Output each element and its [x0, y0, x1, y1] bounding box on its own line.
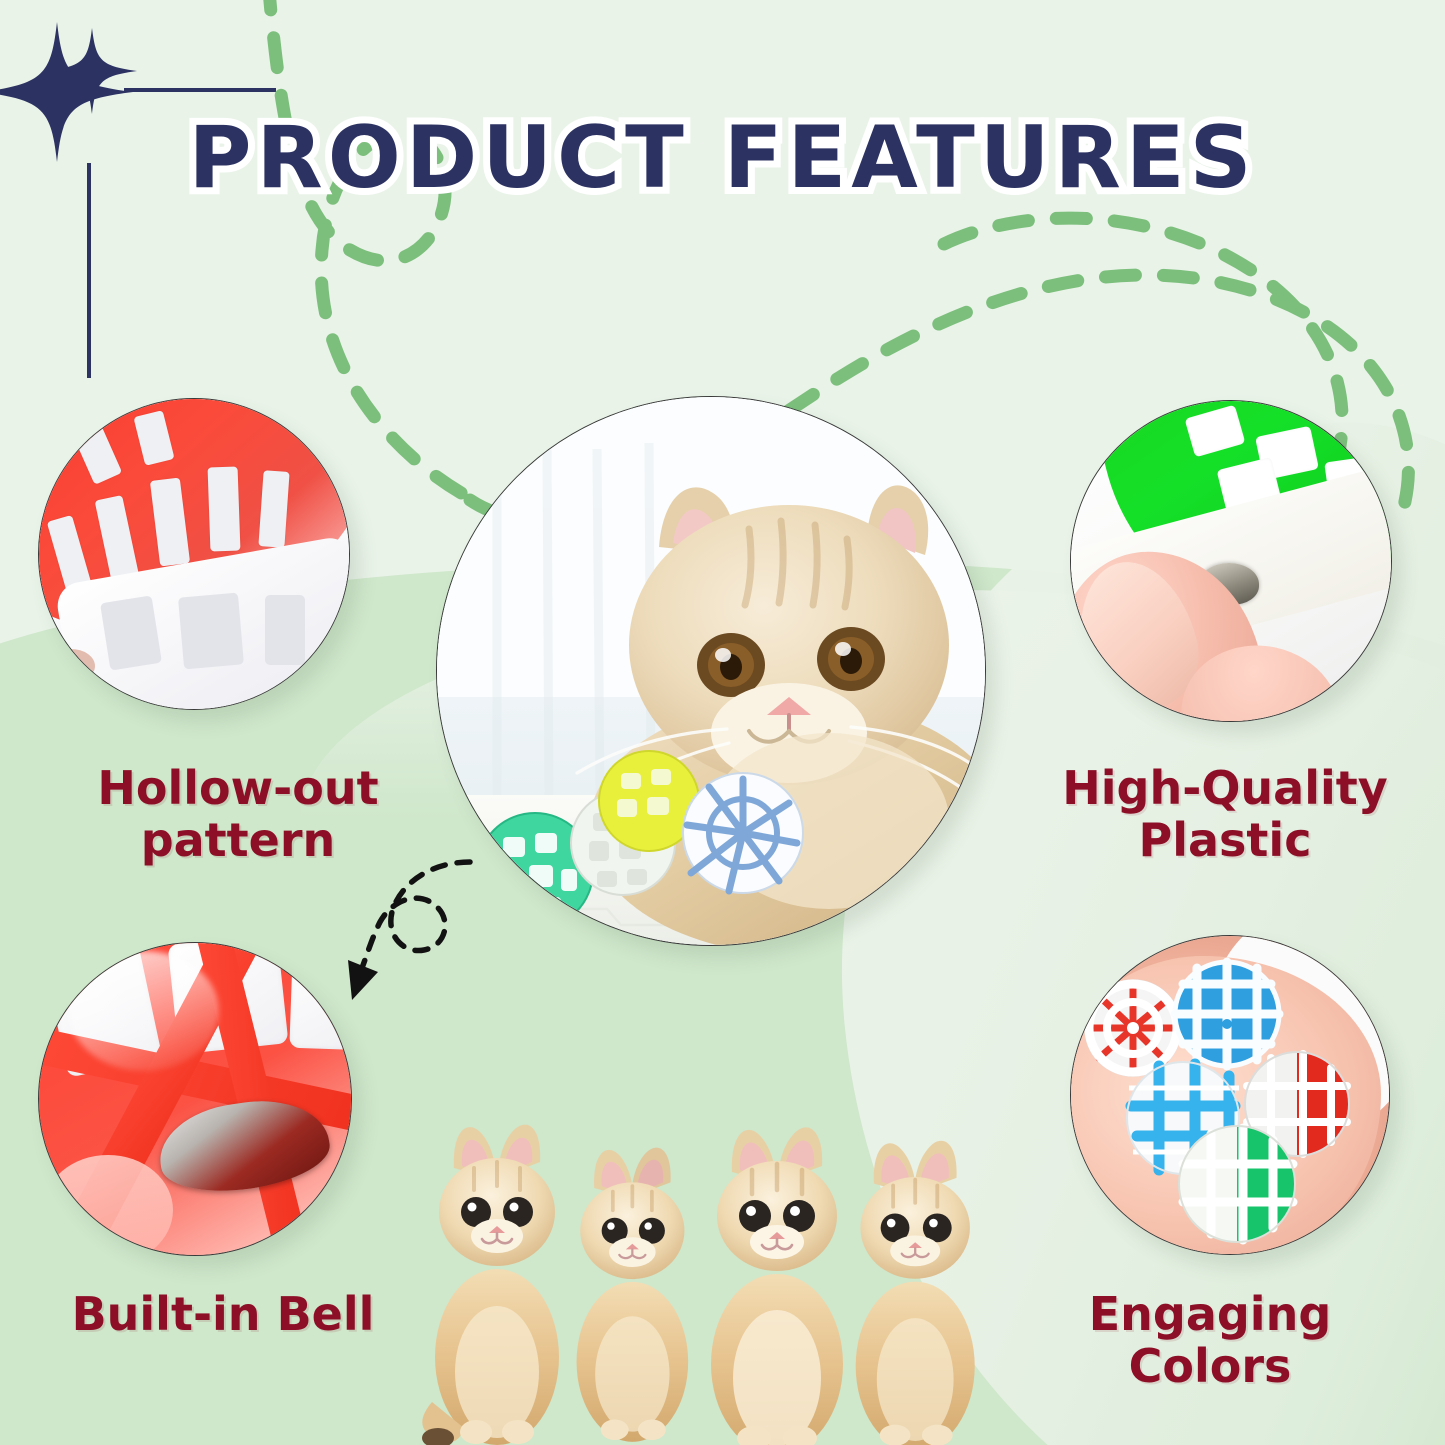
- ball-green: [1179, 1126, 1295, 1242]
- kittens-illustration: [392, 1112, 1032, 1445]
- feature-image-high-quality-plastic: [1070, 400, 1392, 722]
- engaging-colors-photo: [1071, 936, 1389, 1254]
- hero-image-bubble: [436, 396, 986, 946]
- feature-label-engaging-colors: Engaging Colors: [1010, 1288, 1410, 1393]
- feature-label-high-quality-plastic: High-Quality Plastic: [1040, 762, 1410, 867]
- feature-label-built-in-bell: Built-in Bell: [48, 1288, 398, 1340]
- ball-blue-white: [1175, 962, 1279, 1066]
- hand-balls-group: [1071, 936, 1389, 1254]
- kitten: [422, 1125, 559, 1445]
- feature-image-engaging-colors: [1070, 935, 1390, 1255]
- built-in-bell-photo: [39, 943, 351, 1255]
- kitten: [711, 1127, 843, 1445]
- ball-red-white: [1085, 980, 1181, 1076]
- feature-label-hollow-out: Hollow-out pattern: [58, 762, 418, 867]
- feature-image-hollow-out: [38, 398, 350, 710]
- page-title: PRODUCT FEATURES: [0, 108, 1445, 208]
- infographic-canvas: PRODUCT FEATURES: [0, 0, 1445, 1445]
- hollow-out-photo: [39, 399, 349, 709]
- kitten: [856, 1141, 975, 1445]
- hero-photo: [437, 397, 985, 945]
- highlight: [69, 951, 219, 1071]
- kitten: [577, 1148, 689, 1442]
- high-quality-plastic-photo: [1071, 401, 1391, 721]
- hero-ball-blue: [683, 773, 803, 893]
- feature-image-built-in-bell: [38, 942, 352, 1256]
